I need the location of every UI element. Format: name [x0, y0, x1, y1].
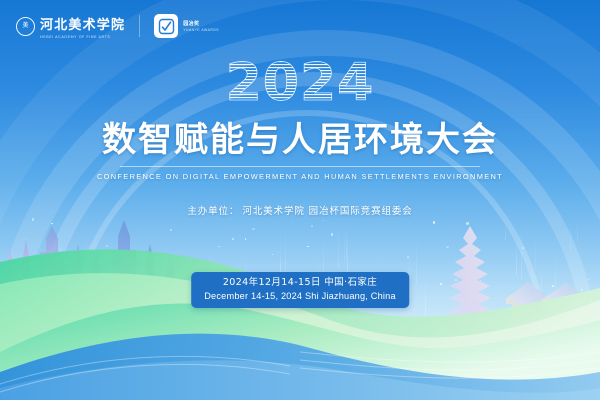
decorative-dot [460, 310, 461, 311]
decorative-ray [109, 253, 110, 305]
decorative-dot [465, 328, 467, 330]
date-en: December 14-15, 2024 Shi Jiazhuang, Chin… [204, 290, 396, 302]
decorative-dot [381, 261, 382, 262]
decorative-ray [516, 240, 517, 274]
decorative-dot [78, 284, 80, 286]
university-seal-icon: 美 [16, 17, 35, 36]
decorative-ray [577, 221, 578, 241]
banner-header: 美 河北美术学院 HEBEI ACADEMY OF FINE ARTS 园冶奖 … [0, 0, 600, 52]
decorative-dot [466, 222, 469, 225]
chinese-gate-silhouette [506, 282, 592, 351]
decorative-dot [89, 327, 90, 328]
decorative-dot [75, 306, 77, 308]
decorative-ray [28, 278, 29, 310]
decorative-ray [40, 244, 41, 269]
decorative-ray [425, 270, 426, 317]
university-logo[interactable]: 美 河北美术学院 HEBEI ACADEMY OF FINE ARTS [16, 14, 125, 39]
decorative-ray [346, 225, 347, 258]
decorative-dot [25, 238, 27, 240]
decorative-dot [272, 254, 273, 255]
decorative-dot [245, 238, 246, 239]
decorative-dot [91, 278, 93, 280]
decorative-dot [433, 221, 436, 224]
decorative-dot [143, 257, 145, 259]
year-graphic: 2024 2024 [0, 52, 600, 110]
decorative-dot [85, 309, 87, 311]
decorative-dot [38, 312, 40, 314]
decorative-dot [30, 310, 32, 312]
decorative-ray [467, 254, 468, 303]
decorative-ray [521, 226, 522, 280]
decorative-dot [161, 299, 163, 301]
decorative-ray [113, 248, 114, 290]
year-outline: 2024 [226, 53, 375, 110]
decorative-ray [344, 227, 345, 261]
decorative-dot [434, 337, 437, 340]
decorative-dot [311, 225, 313, 227]
decorative-dot [552, 285, 554, 287]
seal-glyph: 美 [22, 23, 28, 29]
decorative-dot [581, 289, 583, 291]
decorative-dot [247, 318, 249, 320]
decorative-dot [125, 284, 128, 287]
decorative-dot [239, 321, 240, 322]
decorative-dot [272, 309, 273, 310]
decorative-ray [555, 250, 556, 290]
decorative-dot [440, 283, 442, 285]
decorative-ray [347, 230, 348, 275]
decorative-ray [34, 239, 35, 294]
university-name-cn: 河北美术学院 [40, 14, 125, 33]
decorative-dot [353, 320, 355, 322]
decorative-dot [455, 279, 457, 281]
university-name-en: HEBEI ACADEMY OF FINE ARTS [40, 35, 125, 39]
decorative-dot [118, 288, 121, 291]
decorative-dot [218, 246, 219, 247]
title-block: 数智赋能与人居环境大会 CONFERENCE ON DIGITAL EMPOWE… [0, 122, 600, 217]
page-subtitle: CONFERENCE ON DIGITAL EMPOWERMENT AND HU… [0, 172, 600, 181]
decorative-dot [498, 312, 500, 314]
decorative-dot [307, 246, 308, 247]
decorative-dot [85, 285, 87, 287]
decorative-dot [545, 344, 547, 346]
decorative-ray [81, 251, 82, 299]
title-rule [120, 166, 480, 167]
decorative-ray [518, 270, 519, 326]
decorative-dot [140, 338, 141, 339]
decorative-dot [170, 229, 172, 231]
decorative-dot [522, 247, 524, 249]
award-logo[interactable]: 园冶奖 YUANYE AWARDS [154, 14, 219, 38]
award-name-cn: 园冶奖 [183, 20, 219, 27]
decorative-ray [541, 262, 542, 301]
yuanye-award-mark-icon [154, 14, 178, 38]
decorative-ray [472, 258, 473, 290]
decorative-dot [306, 317, 308, 319]
decorative-dot [145, 294, 146, 295]
organizer-line: 主办单位：河北美术学院 园冶杯国际竞赛组委会 [0, 203, 600, 217]
decorative-ray [122, 276, 123, 319]
decorative-ray [86, 233, 87, 288]
decorative-dot [331, 233, 333, 235]
decorative-dot [72, 311, 73, 312]
decorative-dot [32, 218, 35, 221]
decorative-dot [51, 223, 52, 224]
decorative-dot [588, 279, 589, 280]
decorative-dot [54, 268, 56, 270]
decorative-dot [191, 322, 193, 324]
decorative-ray [570, 219, 571, 251]
decorative-dot [89, 335, 91, 337]
decorative-dot [18, 307, 20, 309]
decorative-dot [170, 289, 173, 292]
decorative-dot [106, 245, 108, 247]
decorative-ray [416, 238, 417, 283]
decorative-ray [140, 263, 141, 302]
decorative-dot [323, 220, 324, 221]
header-divider [139, 15, 140, 37]
decorative-dot [232, 238, 234, 240]
conference-banner: 美 河北美术学院 HEBEI ACADEMY OF FINE ARTS 园冶奖 … [0, 0, 600, 400]
decorative-ray [535, 233, 536, 269]
decorative-ray [505, 222, 506, 240]
decorative-ray [338, 220, 339, 268]
organizer-names: 河北美术学院 园冶杯国际竞赛组委会 [242, 206, 412, 217]
decorative-dot [287, 335, 289, 337]
decorative-dot [446, 246, 449, 249]
decorative-ray [410, 240, 411, 298]
date-badge[interactable]: 2024年12月14-15日 中国·石家庄 December 14-15, 20… [191, 272, 409, 308]
decorative-dot [252, 228, 255, 231]
organizer-label: 主办单位： [187, 206, 239, 217]
decorative-dot [407, 256, 409, 258]
decorative-ray [51, 268, 52, 300]
decorative-dot [480, 280, 481, 281]
award-name-en: YUANYE AWARDS [183, 28, 219, 32]
decorative-dot [362, 340, 364, 342]
decorative-dot [260, 325, 261, 326]
page-title: 数智赋能与人居环境大会 [0, 122, 600, 159]
decorative-dot [60, 249, 61, 250]
decorative-ray [79, 272, 80, 292]
date-cn: 2024年12月14-15日 中国·石家庄 [204, 277, 396, 290]
pagoda-silhouette [444, 226, 499, 331]
decorative-dot [177, 306, 178, 307]
